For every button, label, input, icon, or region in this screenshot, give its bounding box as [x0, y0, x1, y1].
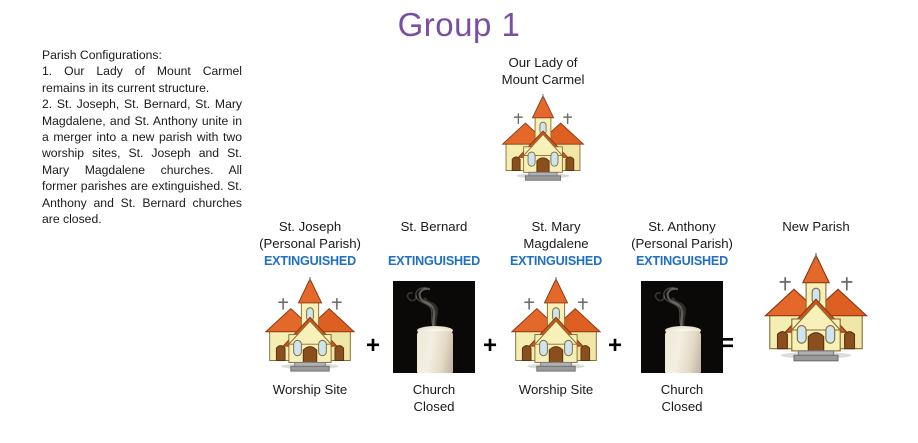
- item-name-line1: St. Joseph: [248, 218, 372, 235]
- description-item-2: 2. St. Joseph, St. Bernard, St. Mary Mag…: [42, 96, 242, 227]
- page-title: Group 1: [0, 6, 918, 44]
- new-parish-group: New Parish: [748, 218, 884, 363]
- status-badge: EXTINGUISHED: [378, 253, 490, 269]
- item-name-line2: [378, 235, 490, 252]
- equals-operator: =: [720, 332, 734, 356]
- status-badge: EXTINGUISHED: [620, 253, 744, 269]
- item-name-line2: (Personal Parish): [248, 235, 372, 252]
- item-name-line1: St. Anthony: [620, 218, 744, 235]
- extinguished-candle-icon: [378, 273, 490, 373]
- status-badge: EXTINGUISHED: [248, 253, 372, 269]
- item-outcome-line2: Closed: [620, 398, 744, 415]
- church-icon: [468, 94, 618, 182]
- item-outcome-line1: Worship Site: [496, 381, 616, 398]
- item-outcome-line1: Worship Site: [248, 381, 372, 398]
- status-badge: EXTINGUISHED: [496, 253, 616, 269]
- new-parish-name: New Parish: [748, 218, 884, 235]
- plus-operator-2: +: [483, 334, 497, 358]
- church-icon: [748, 253, 884, 363]
- description-heading: Parish Configurations:: [42, 47, 242, 63]
- equation-item-st-bernard: St. Bernard EXTINGUISHED Church Closed: [378, 218, 490, 415]
- parish-configurations-text: Parish Configurations: 1. Our Lady of Mo…: [42, 47, 242, 227]
- church-icon: [248, 273, 372, 373]
- item-name-line1: St. Mary: [496, 218, 616, 235]
- church-icon: [496, 273, 616, 373]
- top-parish-name-line1: Our Lady of: [468, 54, 618, 71]
- description-item-1: 1. Our Lady of Mount Carmel remains in i…: [42, 63, 242, 96]
- top-parish-name-line2: Mount Carmel: [468, 71, 618, 88]
- top-parish-group: Our Lady of Mount Carmel: [468, 54, 618, 182]
- item-outcome-line2: Closed: [378, 398, 490, 415]
- item-outcome-line1: Church: [620, 381, 744, 398]
- equation-item-st-joseph: St. Joseph (Personal Parish) EXTINGUISHE…: [248, 218, 372, 398]
- extinguished-candle-icon: [620, 273, 744, 373]
- item-name-line2: Magdalene: [496, 235, 616, 252]
- item-name-line1: St. Bernard: [378, 218, 490, 235]
- item-outcome-line1: Church: [378, 381, 490, 398]
- equation-item-st-mary-magdalene: St. Mary Magdalene EXTINGUISHED: [496, 218, 616, 398]
- item-name-line2: (Personal Parish): [620, 235, 744, 252]
- equation-item-st-anthony: St. Anthony (Personal Parish) EXTINGUISH…: [620, 218, 744, 415]
